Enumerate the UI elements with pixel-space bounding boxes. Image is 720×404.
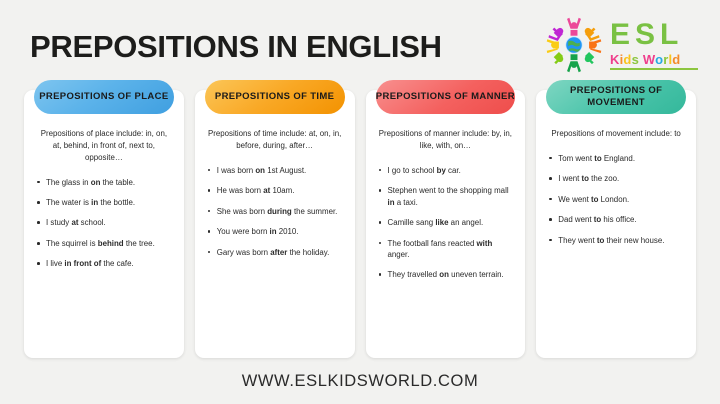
card-heading-pill: PREPOSITIONS OF PLACE bbox=[34, 80, 174, 114]
card-heading-pill: PREPOSITIONS OF MOVEMENT bbox=[546, 80, 686, 114]
sentence-suffix: his office. bbox=[601, 215, 636, 224]
prepositions-poster: PREPOSITIONS IN ENGLISH bbox=[0, 0, 720, 404]
card-heading-label: PREPOSITIONS OF PLACE bbox=[39, 91, 168, 103]
sentence-suffix: anger. bbox=[388, 250, 410, 259]
preposition-highlight: during bbox=[267, 207, 292, 216]
preposition-highlight: on bbox=[439, 270, 449, 279]
poster-footer: WWW.ESLKIDSWORLD.COM bbox=[0, 358, 720, 404]
list-item: Tom went to England. bbox=[547, 153, 685, 164]
sentence-prefix: The water is bbox=[46, 198, 91, 207]
sentence-suffix: the bottle. bbox=[98, 198, 135, 207]
preposition-highlight: to bbox=[594, 154, 601, 163]
preposition-highlight: like bbox=[435, 218, 448, 227]
website-url: WWW.ESLKIDSWORLD.COM bbox=[242, 372, 479, 391]
sentence-prefix: Camille sang bbox=[388, 218, 436, 227]
logo-underline bbox=[610, 68, 698, 70]
sentence-prefix: You were born bbox=[217, 227, 270, 236]
sentence-prefix: The football fans reacted bbox=[388, 239, 477, 248]
people-around-globe-icon bbox=[545, 16, 603, 74]
list-item: We went to London. bbox=[547, 194, 685, 205]
logo-esl-text: ESL bbox=[610, 20, 683, 50]
list-item: I study at school. bbox=[35, 217, 173, 228]
card-heading-pill: PREPOSITIONS OF MANNER bbox=[376, 80, 516, 114]
sentence-suffix: car. bbox=[446, 166, 461, 175]
sentence-suffix: their new house. bbox=[604, 236, 664, 245]
example-list: Tom went to England.I went to the zoo.We… bbox=[547, 153, 685, 246]
preposition-highlight: with bbox=[477, 239, 493, 248]
preposition-highlight: by bbox=[437, 166, 446, 175]
example-list: I was born on 1st August.He was born at … bbox=[206, 165, 344, 258]
logo-tagline: Kids World bbox=[610, 53, 680, 66]
logo-tagline-letter: o bbox=[655, 52, 663, 67]
logo-tagline-letter: d bbox=[672, 52, 680, 67]
poster-header: PREPOSITIONS IN ENGLISH bbox=[0, 0, 720, 90]
sentence-suffix: the holiday. bbox=[287, 248, 329, 257]
preposition-cards: PREPOSITIONS OF PLACEPrepositions of pla… bbox=[24, 90, 696, 358]
sentence-suffix: an angel. bbox=[448, 218, 483, 227]
sentence-prefix: Stephen went to the shopping mall bbox=[388, 186, 509, 195]
preposition-highlight: on bbox=[255, 166, 265, 175]
preposition-highlight: behind bbox=[98, 239, 124, 248]
sentence-prefix: He was born bbox=[217, 186, 264, 195]
card-intro-text: Prepositions of time include: at, on, in… bbox=[208, 128, 342, 152]
list-item: The football fans reacted with anger. bbox=[377, 238, 515, 261]
sentence-prefix: I study bbox=[46, 218, 71, 227]
list-item: Stephen went to the shopping mall in a t… bbox=[377, 185, 515, 208]
list-item: Camille sang like an angel. bbox=[377, 217, 515, 228]
sentence-prefix: Dad went bbox=[558, 215, 594, 224]
preposition-card: PREPOSITIONS OF PLACEPrepositions of pla… bbox=[24, 90, 184, 358]
sentence-prefix: We went bbox=[558, 195, 591, 204]
sentence-suffix: 1st August. bbox=[265, 166, 306, 175]
preposition-highlight: to bbox=[582, 174, 589, 183]
card-intro-text: Prepositions of manner include: by, in, … bbox=[379, 128, 513, 152]
sentence-prefix: Tom went bbox=[558, 154, 594, 163]
list-item: He was born at 10am. bbox=[206, 185, 344, 196]
card-intro-text: Prepositions of place include: in, on, a… bbox=[37, 128, 171, 164]
sentence-prefix: I go to school bbox=[388, 166, 437, 175]
list-item: She was born during the summer. bbox=[206, 206, 344, 217]
list-item: Dad went to his office. bbox=[547, 214, 685, 225]
preposition-card: PREPOSITIONS OF MANNERPrepositions of ma… bbox=[366, 90, 526, 358]
preposition-highlight: in front of bbox=[64, 259, 101, 268]
page-title: PREPOSITIONS IN ENGLISH bbox=[30, 31, 442, 62]
card-heading-label: PREPOSITIONS OF MOVEMENT bbox=[546, 85, 686, 108]
sentence-suffix: school. bbox=[78, 218, 105, 227]
preposition-card: PREPOSITIONS OF TIMEPrepositions of time… bbox=[195, 90, 355, 358]
list-item: I go to school by car. bbox=[377, 165, 515, 176]
sentence-suffix: the tree. bbox=[124, 239, 155, 248]
list-item: I went to the zoo. bbox=[547, 173, 685, 184]
preposition-highlight: in bbox=[388, 198, 395, 207]
sentence-suffix: London. bbox=[598, 195, 629, 204]
sentence-suffix: the cafe. bbox=[101, 259, 133, 268]
card-heading-pill: PREPOSITIONS OF TIME bbox=[205, 80, 345, 114]
sentence-prefix: They travelled bbox=[388, 270, 440, 279]
logo-tagline-letter: d bbox=[623, 52, 631, 67]
sentence-suffix: the zoo. bbox=[589, 174, 619, 183]
esl-kids-world-logo: ESL Kids World bbox=[545, 16, 698, 74]
list-item: The glass in on the table. bbox=[35, 177, 173, 188]
example-list: I go to school by car.Stephen went to th… bbox=[377, 165, 515, 281]
list-item: The water is in the bottle. bbox=[35, 197, 173, 208]
list-item: They travelled on uneven terrain. bbox=[377, 269, 515, 280]
card-heading-label: PREPOSITIONS OF MANNER bbox=[376, 91, 515, 103]
sentence-prefix: I was born bbox=[217, 166, 256, 175]
list-item: The squirrel is behind the tree. bbox=[35, 238, 173, 249]
example-list: The glass in on the table.The water is i… bbox=[35, 177, 173, 270]
sentence-suffix: 10am. bbox=[270, 186, 294, 195]
preposition-highlight: after bbox=[270, 248, 287, 257]
preposition-card: PREPOSITIONS OF MOVEMENTPrepositions of … bbox=[536, 90, 696, 358]
list-item: They went to their new house. bbox=[547, 235, 685, 246]
logo-tagline-letter: K bbox=[610, 52, 620, 67]
card-intro-text: Prepositions of movement include: to bbox=[549, 128, 683, 140]
sentence-suffix: uneven terrain. bbox=[449, 270, 504, 279]
list-item: I was born on 1st August. bbox=[206, 165, 344, 176]
logo-tagline-letter: W bbox=[643, 52, 655, 67]
logo-wordmark: ESL Kids World bbox=[610, 20, 698, 70]
sentence-prefix: Gary was born bbox=[217, 248, 271, 257]
card-heading-label: PREPOSITIONS OF TIME bbox=[215, 91, 334, 103]
sentence-prefix: She was born bbox=[217, 207, 267, 216]
sentence-prefix: I went bbox=[558, 174, 581, 183]
sentence-prefix: I live bbox=[46, 259, 64, 268]
sentence-suffix: a taxi. bbox=[395, 198, 418, 207]
list-item: You were born in 2010. bbox=[206, 226, 344, 237]
list-item: Gary was born after the holiday. bbox=[206, 247, 344, 258]
sentence-prefix: The squirrel is bbox=[46, 239, 98, 248]
sentence-suffix: the summer. bbox=[292, 207, 338, 216]
sentence-suffix: 2010. bbox=[277, 227, 299, 236]
list-item: I live in front of the cafe. bbox=[35, 258, 173, 269]
sentence-prefix: The glass in bbox=[46, 178, 91, 187]
preposition-highlight: in bbox=[270, 227, 277, 236]
preposition-highlight: on bbox=[91, 178, 101, 187]
sentence-suffix: England. bbox=[602, 154, 635, 163]
logo-tagline-letter: s bbox=[632, 52, 639, 67]
sentence-prefix: They went bbox=[558, 236, 597, 245]
sentence-suffix: the table. bbox=[100, 178, 135, 187]
